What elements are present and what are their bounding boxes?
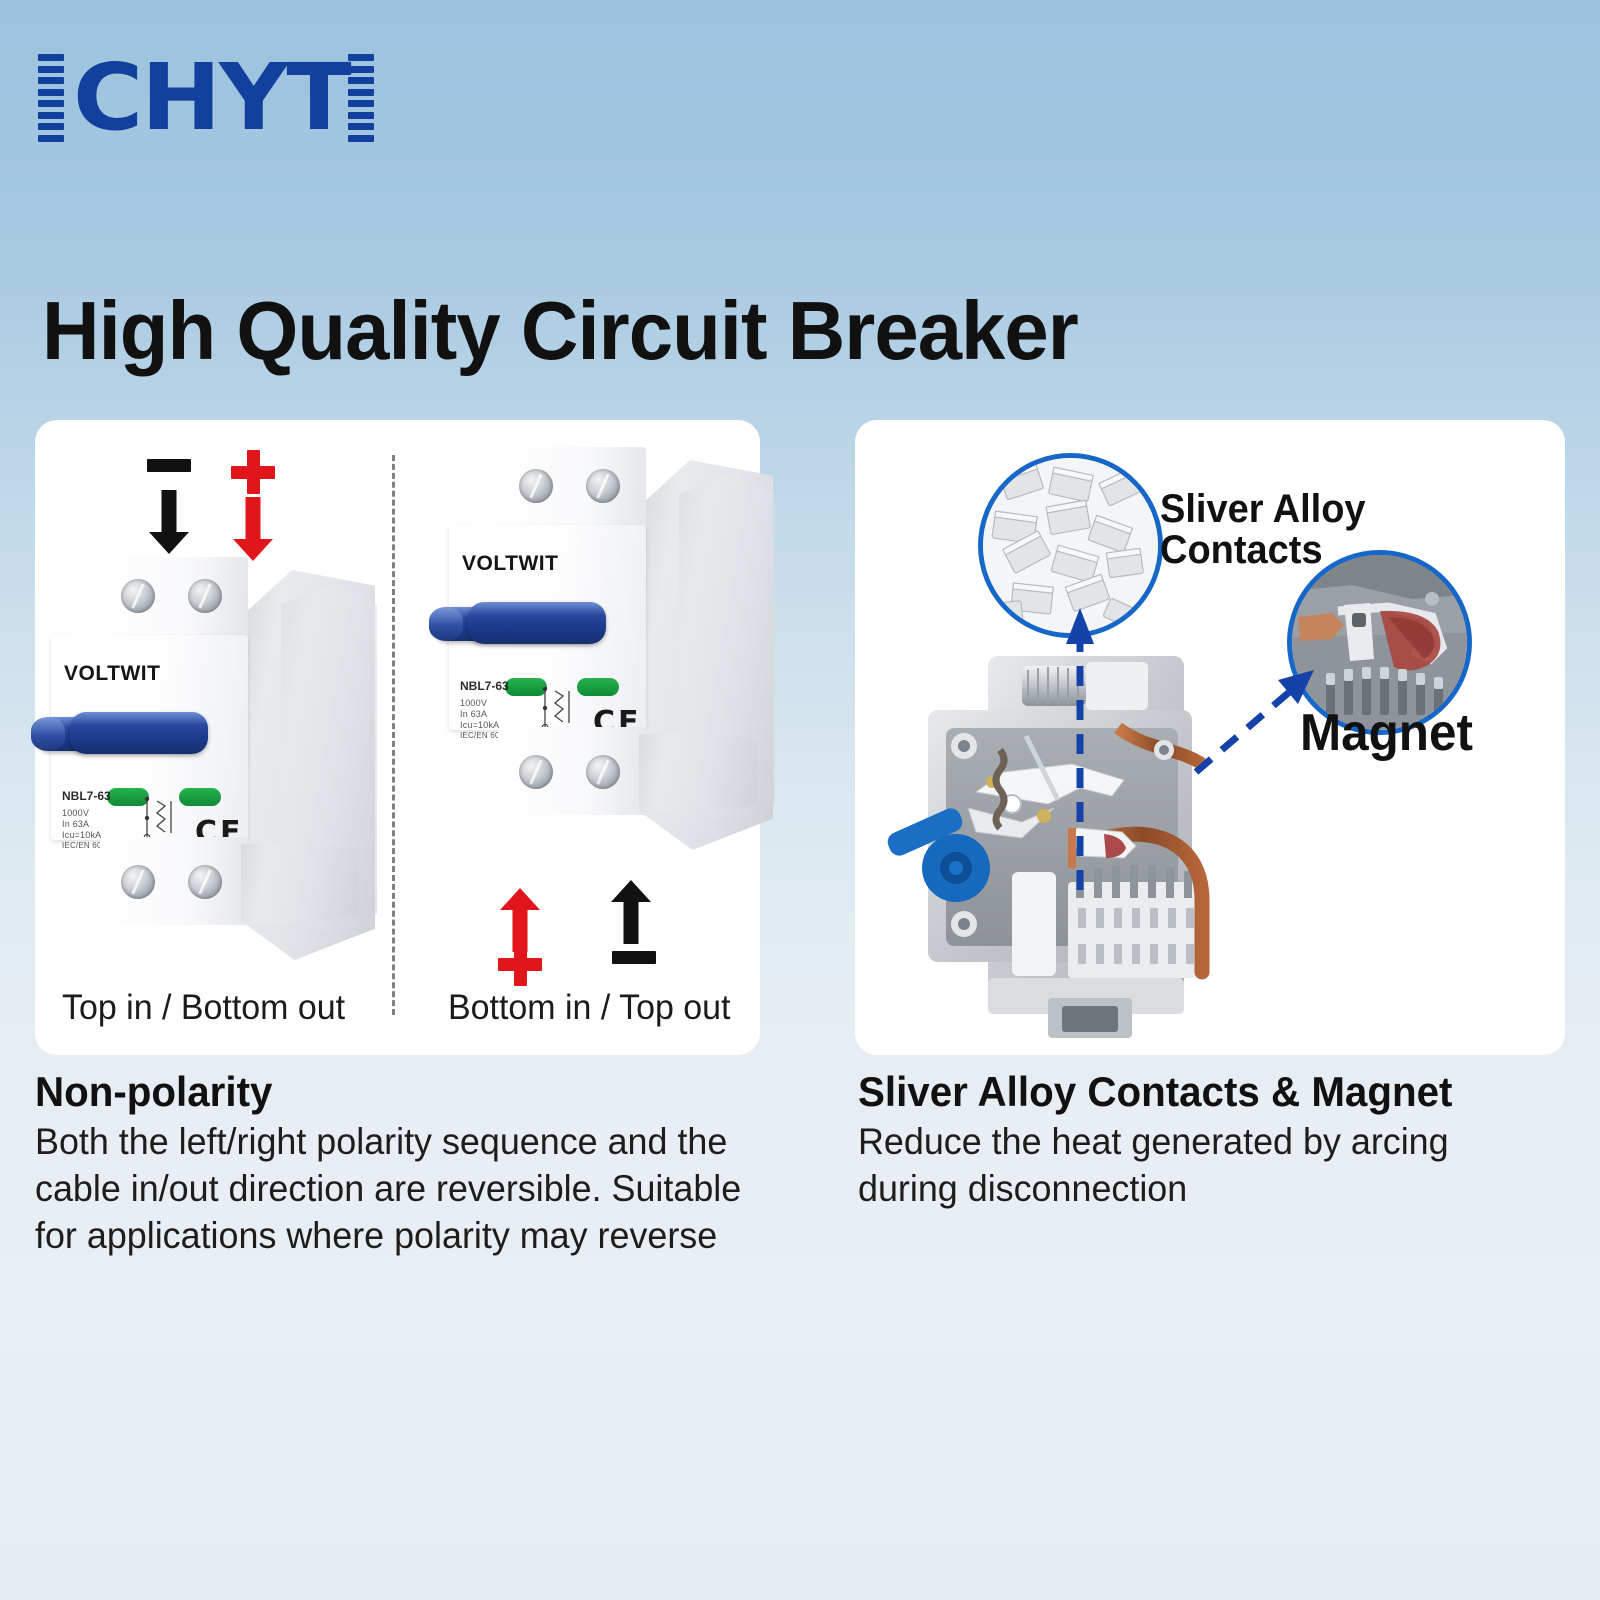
label-sliver-alloy-line2: Contacts — [1160, 528, 1323, 573]
breaker-a-model: NBL7-63 — [62, 789, 111, 803]
feature-body-contacts-magnet: Reduce the heat generated by arcing duri… — [858, 1118, 1537, 1212]
leader-line-contacts — [1060, 600, 1100, 890]
breaker-a-spec-2: Icu=10kA — [62, 830, 101, 840]
feature-title-contacts-magnet: Sliver Alloy Contacts & Magnet — [858, 1068, 1452, 1116]
arrow-down-red-icon — [233, 497, 273, 561]
label-sliver-alloy-line1: Sliver Alloy — [1160, 487, 1366, 532]
caption-top-in-bottom-out: Top in / Bottom out — [62, 988, 345, 1028]
arrow-down-black-icon — [149, 490, 189, 554]
caption-bottom-in-top-out: Bottom in / Top out — [448, 988, 730, 1028]
breaker-a-brand: VOLTWIT — [64, 662, 160, 686]
panel-divider — [392, 455, 395, 1015]
brand-name: CHYT — [73, 52, 350, 144]
logo-bars-left-icon — [38, 54, 64, 142]
feature-title-non-polarity: Non-polarity — [35, 1068, 272, 1116]
brand-logo: CHYT — [38, 48, 374, 148]
breaker-b-model: NBL7-63 — [460, 679, 509, 693]
breaker-b-spec-0: 1000V — [460, 698, 487, 708]
feature-body-non-polarity: Both the left/right polarity sequence an… — [35, 1118, 772, 1259]
breaker-a-spec-1: In 63A — [62, 819, 89, 829]
breaker-b-spec-1: In 63A — [460, 709, 487, 719]
breaker-b-brand: VOLTWIT — [462, 552, 558, 576]
breaker-unit-b: VOLTWIT NBL7-63 1000V In 63A Icu=10kA IE… — [443, 455, 773, 870]
breaker-b-spec-2: Icu=10kA — [460, 720, 499, 730]
breaker-unit-a: VOLTWIT NBL7-63 1000V In 63A Icu=10kA IE… — [45, 565, 375, 980]
logo-bars-right-icon — [348, 54, 374, 142]
label-magnet: Magnet — [1300, 703, 1473, 763]
arrow-up-black-icon — [611, 880, 651, 944]
page-title: High Quality Circuit Breaker — [42, 285, 1078, 377]
breaker-a-spec-0: 1000V — [62, 808, 89, 818]
